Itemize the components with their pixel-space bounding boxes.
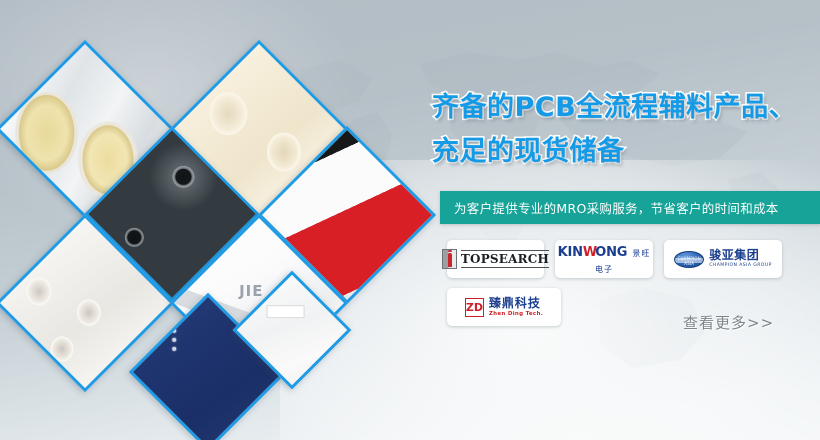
champion-asia-english-name: CHAMPION ASIA GROUP xyxy=(709,264,772,269)
topsearch-mark-icon xyxy=(442,249,457,269)
product-collage: JIE xyxy=(0,0,440,440)
view-more-link[interactable]: 查看更多>> xyxy=(683,312,774,333)
panel-dots xyxy=(167,325,176,352)
champion-asia-text: 骏亚集团 CHAMPION ASIA GROUP xyxy=(709,249,772,269)
topsearch-lockup: TOPSEARCH xyxy=(442,249,549,269)
zhen-ding-chinese-name: 臻鼎科技 xyxy=(489,297,543,309)
banner-headline: 齐备的PCB全流程辅料产品、 充足的现货储备 xyxy=(432,86,820,174)
zhen-ding-lockup: ZD 臻鼎科技 Zhen Ding Tech. xyxy=(465,297,543,318)
headline-line-2: 充足的现货储备 xyxy=(432,130,820,174)
jie-watermark-text: JIE xyxy=(239,282,263,300)
zhen-ding-mark-icon: ZD xyxy=(465,298,484,317)
kinwong-wordmark: KINWONG xyxy=(558,245,628,260)
label-graphic xyxy=(267,305,305,318)
kinwong-text-b: ONG xyxy=(595,245,627,260)
partner-logo-zhen-ding[interactable]: ZD 臻鼎科技 Zhen Ding Tech. xyxy=(447,288,561,326)
partner-logo-topsearch[interactable]: TOPSEARCH xyxy=(447,240,544,278)
partner-logo-kinwong[interactable]: KINWONG 景旺电子 xyxy=(555,240,653,278)
partner-logo-champion-asia[interactable]: CHAMPION ASIA 骏亚集团 CHAMPION ASIA GROUP xyxy=(664,240,782,278)
banner-subtitle-text: 为客户提供专业的MRO采购服务，节省客户的时间和成本 xyxy=(440,198,779,217)
zhen-ding-english-name: Zhen Ding Tech. xyxy=(489,312,543,318)
champion-asia-chinese-name: 骏亚集团 xyxy=(709,249,772,261)
globe-icon-text: CHAMPION ASIA xyxy=(675,256,703,266)
champion-asia-lockup: CHAMPION ASIA 骏亚集团 CHAMPION ASIA GROUP xyxy=(674,249,772,269)
topsearch-wordmark: TOPSEARCH xyxy=(461,250,549,268)
globe-icon: CHAMPION ASIA xyxy=(674,251,704,268)
partner-logo-row-1: TOPSEARCH KINWONG 景旺电子 CHAMPION ASIA 骏亚集… xyxy=(447,240,820,278)
zhen-ding-text: 臻鼎科技 Zhen Ding Tech. xyxy=(489,297,543,318)
banner-subtitle-bar: 为客户提供专业的MRO采购服务，节省客户的时间和成本 xyxy=(440,191,820,224)
kinwong-text-a: KIN xyxy=(558,245,583,260)
promo-banner: JIE 齐备的PCB全流程辅料产品、 充足的现货储备 为客户提供专业的MRO采购… xyxy=(0,0,820,440)
headline-line-1: 齐备的PCB全流程辅料产品、 xyxy=(432,92,796,123)
kinwong-lockup: KINWONG 景旺电子 xyxy=(555,243,653,275)
kinwong-accent-w: W xyxy=(583,245,595,260)
